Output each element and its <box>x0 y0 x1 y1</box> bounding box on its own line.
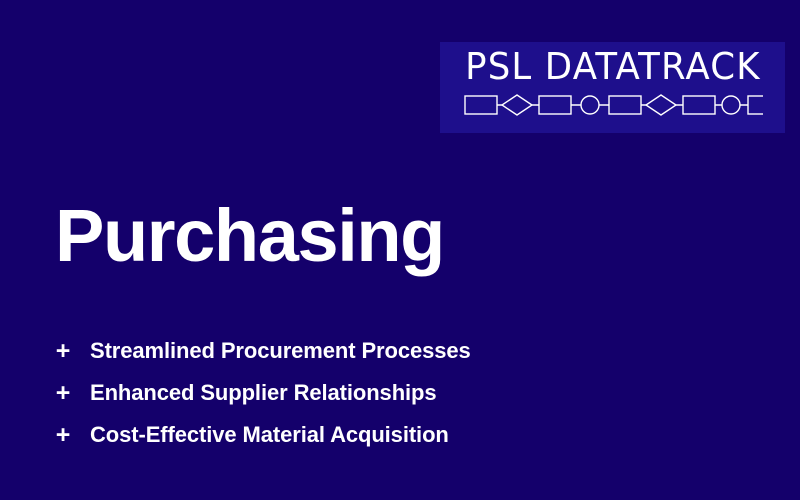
plus-icon: + <box>48 423 78 448</box>
list-item-label: Enhanced Supplier Relationships <box>90 380 437 406</box>
slide-canvas: PSL DATATRACK <box>0 0 800 500</box>
list-item: + Enhanced Supplier Relationships <box>48 372 471 414</box>
list-item: + Cost-Effective Material Acquisition <box>48 414 471 456</box>
feature-list: + Streamlined Procurement Processes + En… <box>48 330 471 456</box>
plus-icon: + <box>48 339 78 364</box>
logo-flowchart-decoration-icon <box>463 92 763 118</box>
list-item-label: Streamlined Procurement Processes <box>90 338 471 364</box>
logo-wordmark: PSL DATATRACK <box>465 46 760 89</box>
list-item: + Streamlined Procurement Processes <box>48 330 471 372</box>
list-item-label: Cost-Effective Material Acquisition <box>90 422 449 448</box>
plus-icon: + <box>48 381 78 406</box>
page-title: Purchasing <box>55 199 444 273</box>
logo-panel: PSL DATATRACK <box>440 42 785 133</box>
